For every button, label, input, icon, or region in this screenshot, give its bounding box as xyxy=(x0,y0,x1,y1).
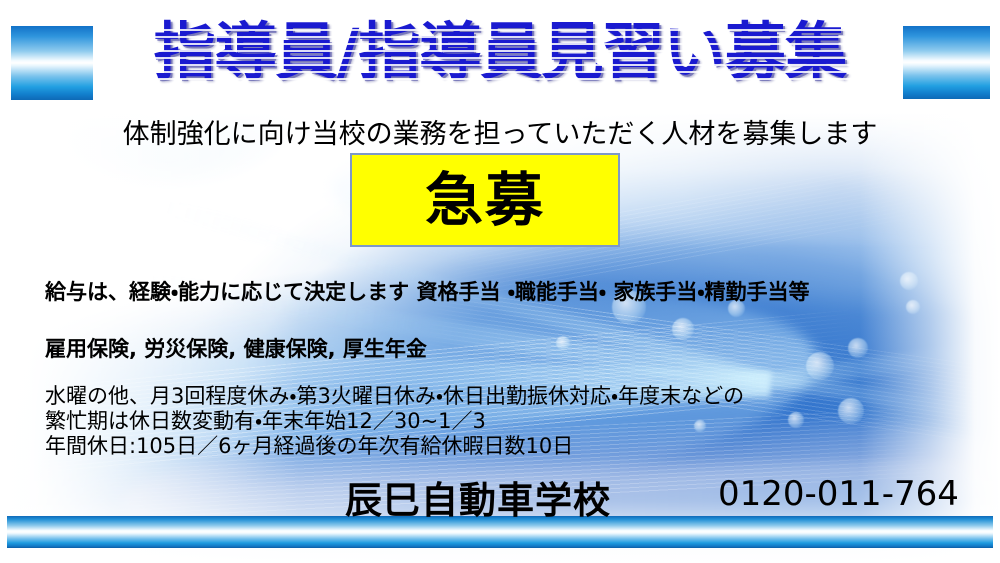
school-name: 辰巳自動車学校 xyxy=(345,470,611,524)
page-title: 指導員/指導員見習い募集 xyxy=(0,17,1000,86)
background-bokeh-dot xyxy=(838,398,864,424)
phone-number[interactable]: 0120-011-764 xyxy=(718,474,959,514)
background-bokeh-dot xyxy=(556,336,570,350)
page-subtitle: 体制強化に向け当校の業務を担っていただく人材を募集します xyxy=(0,112,1000,151)
holiday-info-block: 水曜の他、月3回程度休み・第3火曜日休み・休日出勤振休対応・年度末などの 繁忙期… xyxy=(45,384,744,459)
background-bokeh-dot xyxy=(788,412,804,428)
background-bokeh-dot xyxy=(672,318,694,340)
salary-info-line: 給与は、経験・能力に応じて決定します 資格手当 ・職能手当・ 家族手当・精勤手当… xyxy=(45,276,810,306)
insurance-info-line: 雇用保険, 労災保険, 健康保険, 厚生年金 xyxy=(45,333,427,363)
urgent-recruitment-badge-label: 急募 xyxy=(425,171,545,229)
holiday-info-line: 水曜の他、月3回程度休み・第3火曜日休み・休日出勤振休対応・年度末などの xyxy=(45,384,744,409)
background-bokeh-dot xyxy=(900,272,918,290)
holiday-info-line: 繁忙期は休日数変動有・年末年始12／30~1／3 xyxy=(45,409,744,434)
background-bokeh-dot xyxy=(906,300,920,314)
background-bokeh-dot xyxy=(806,352,834,380)
holiday-info-line: 年間休日:105日／6ヶ月経過後の年次有給休暇日数10日 xyxy=(45,434,744,459)
recruitment-poster: 指導員/指導員見習い募集 体制強化に向け当校の業務を担っていただく人材を募集しま… xyxy=(0,0,1000,563)
background-bokeh-dot xyxy=(848,338,868,358)
urgent-recruitment-badge: 急募 xyxy=(350,153,620,247)
